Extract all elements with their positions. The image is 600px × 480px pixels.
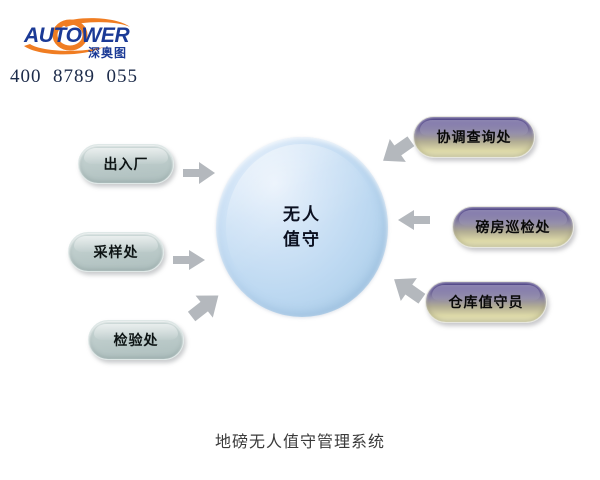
node-cang-ku-zhi-shou-yuan[interactable]: 仓库值守员 bbox=[425, 281, 547, 323]
node-label: 采样处 bbox=[94, 242, 139, 262]
logo-wordmark: AUTOWER bbox=[23, 24, 131, 47]
node-label: 协调查询处 bbox=[437, 127, 512, 147]
node-chu-ru-chang[interactable]: 出入厂 bbox=[78, 144, 174, 184]
node-label: 仓库值守员 bbox=[449, 292, 524, 312]
autower-logo: AUTOWER 深奥图 bbox=[14, 14, 154, 62]
arrow-right-icon bbox=[182, 160, 216, 186]
logo-graphic: AUTOWER 深奥图 bbox=[14, 14, 154, 62]
arrow-left-icon bbox=[397, 208, 431, 232]
center-hub-label: 无人 值守 bbox=[216, 137, 388, 317]
node-bang-fang-xun-jian-chu[interactable]: 磅房巡检处 bbox=[452, 206, 574, 248]
center-hub-node: 无人 值守 bbox=[216, 137, 388, 317]
contact-phone-number: 400 8789 055 bbox=[10, 66, 138, 88]
node-xie-tiao-cha-xun-chu[interactable]: 协调查询处 bbox=[413, 116, 535, 158]
node-label: 磅房巡检处 bbox=[476, 217, 551, 237]
center-hub-label-line1: 无人 bbox=[283, 202, 321, 228]
node-label: 出入厂 bbox=[104, 154, 149, 174]
node-label: 检验处 bbox=[114, 330, 159, 350]
arrow-up-left-icon bbox=[389, 271, 427, 307]
diagram-caption: 地磅无人值守管理系统 bbox=[0, 428, 600, 452]
diagram-page: AUTOWER 深奥图 400 8789 055 无人 值守 出入厂 采样处 检… bbox=[0, 0, 600, 480]
arrow-right-icon bbox=[172, 248, 206, 272]
node-cai-yang-chu[interactable]: 采样处 bbox=[68, 232, 164, 272]
node-jian-yan-chu[interactable]: 检验处 bbox=[88, 320, 184, 360]
logo-subtext: 深奥图 bbox=[88, 45, 127, 60]
center-hub-label-line2: 值守 bbox=[283, 227, 321, 253]
